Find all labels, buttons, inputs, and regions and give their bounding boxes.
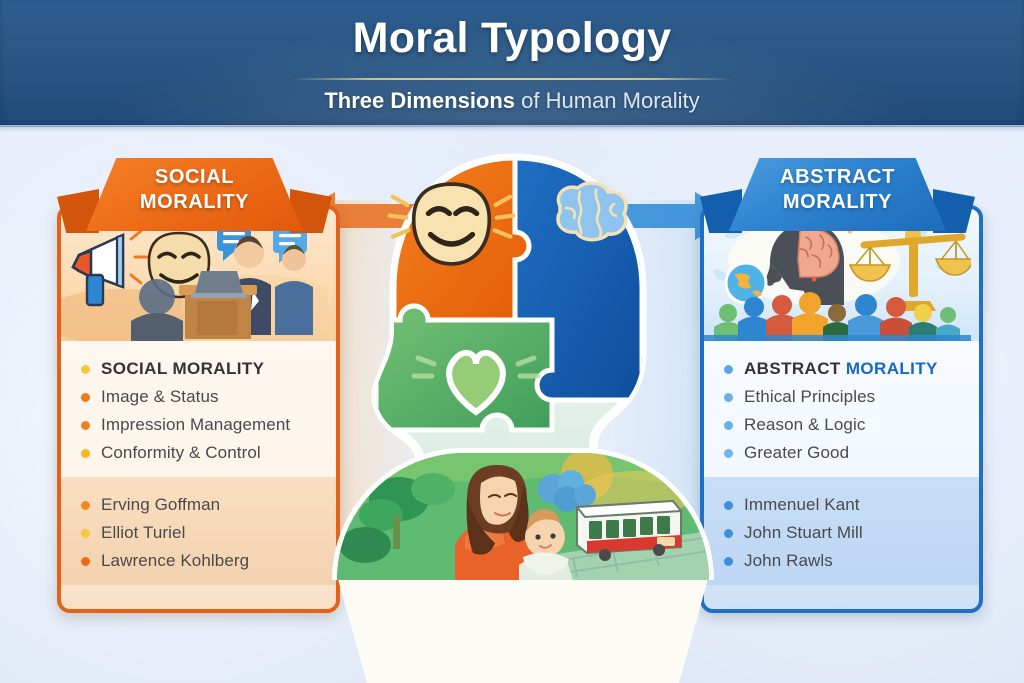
bullet-dot	[81, 529, 90, 538]
bullet-dot	[81, 557, 90, 566]
bullet-dot	[81, 365, 90, 374]
list-item: John Rawls	[704, 547, 979, 575]
panel-social-morality: SOCIAL MORALITY Image & Status Impressio…	[57, 205, 340, 613]
title-divider	[292, 78, 732, 80]
list-item: Conformity & Control	[61, 439, 336, 467]
banner-social-line1: SOCIAL	[86, 165, 303, 190]
subtitle-strong: Three Dimensions	[324, 88, 515, 113]
banner-social-line2: MORALITY	[86, 190, 303, 215]
panel-abstract-morality: ABSTRACT MORALITY Ethical Principles Rea…	[700, 205, 983, 613]
biological-illustration	[332, 448, 714, 580]
page-subtitle: Three Dimensions of Human Morality	[0, 88, 1024, 114]
bullet-dot	[81, 449, 90, 458]
infographic-canvas: Moral Typology Three Dimensions of Human…	[0, 0, 1024, 683]
list-item: Lawrence Kohlberg	[61, 547, 336, 575]
list-item-label: Reason & Logic	[744, 415, 865, 435]
bottom-trapezoid: BIOLOGICAL MORALITY Instincts & Emotions…	[320, 574, 726, 683]
list-item: Erving Goffman	[61, 491, 336, 519]
abstract-heading-part2: MORALITY	[846, 359, 938, 378]
banner-abstract-morality: ABSTRACT MORALITY	[694, 158, 981, 236]
banner-abstract-line2: MORALITY	[729, 190, 946, 215]
page-title: Moral Typology	[0, 14, 1024, 63]
social-thinkers-list: Erving Goffman Elliot Turiel Lawrence Ko…	[61, 477, 336, 585]
banner-abstract-line1: ABSTRACT	[729, 165, 946, 190]
list-item: Ethical Principles	[704, 383, 979, 411]
list-item: Impression Management	[61, 411, 336, 439]
bullet-dot	[724, 421, 733, 430]
abstract-list-heading: ABSTRACT MORALITY	[704, 355, 979, 383]
list-item-label: Image & Status	[101, 387, 219, 407]
banner-social-text: SOCIAL MORALITY	[86, 165, 303, 215]
list-item-label: John Rawls	[744, 551, 833, 571]
social-heading-text: SOCIAL MORALITY	[101, 359, 264, 379]
globe-icon	[726, 263, 766, 303]
bullet-dot	[724, 365, 733, 374]
banner-abstract-text: ABSTRACT MORALITY	[729, 165, 946, 215]
list-item: Elliot Turiel	[61, 519, 336, 547]
list-item-label: Impression Management	[101, 415, 290, 435]
list-item-label: Greater Good	[744, 443, 849, 463]
bullet-dot	[81, 393, 90, 402]
list-item: John Stuart Mill	[704, 519, 979, 547]
bullet-dot	[724, 393, 733, 402]
brain-icon	[558, 183, 626, 240]
list-item-label: Immenuel Kant	[744, 495, 860, 515]
list-item: Image & Status	[61, 383, 336, 411]
abstract-heading-text: ABSTRACT MORALITY	[744, 359, 938, 379]
header-band: Moral Typology Three Dimensions of Human…	[0, 0, 1024, 127]
list-item-label: Lawrence Kohlberg	[101, 551, 249, 571]
list-item: Immenuel Kant	[704, 491, 979, 519]
list-item-label: John Stuart Mill	[744, 523, 863, 543]
abstract-heading-part1: ABSTRACT	[744, 359, 846, 378]
abstract-thinkers-list: Immenuel Kant John Stuart Mill John Rawl…	[704, 477, 979, 585]
list-item-label: Conformity & Control	[101, 443, 261, 463]
banner-social-morality: SOCIAL MORALITY	[51, 158, 338, 236]
abstract-traits-list: ABSTRACT MORALITY Ethical Principles Rea…	[704, 341, 979, 477]
social-list-heading: SOCIAL MORALITY	[61, 355, 336, 383]
list-item: Reason & Logic	[704, 411, 979, 439]
social-traits-list: SOCIAL MORALITY Image & Status Impressio…	[61, 341, 336, 477]
biological-illustration-svg	[337, 453, 709, 580]
list-item-label: Erving Goffman	[101, 495, 220, 515]
panel-biological-morality: BIOLOGICAL MORALITY Instincts & Emotions…	[306, 448, 740, 668]
bullet-dot	[81, 421, 90, 430]
list-item-label: Ethical Principles	[744, 387, 875, 407]
list-item-label: Elliot Turiel	[101, 523, 185, 543]
bullet-dot	[81, 501, 90, 510]
list-item: Greater Good	[704, 439, 979, 467]
subtitle-rest: of Human Morality	[515, 88, 700, 113]
